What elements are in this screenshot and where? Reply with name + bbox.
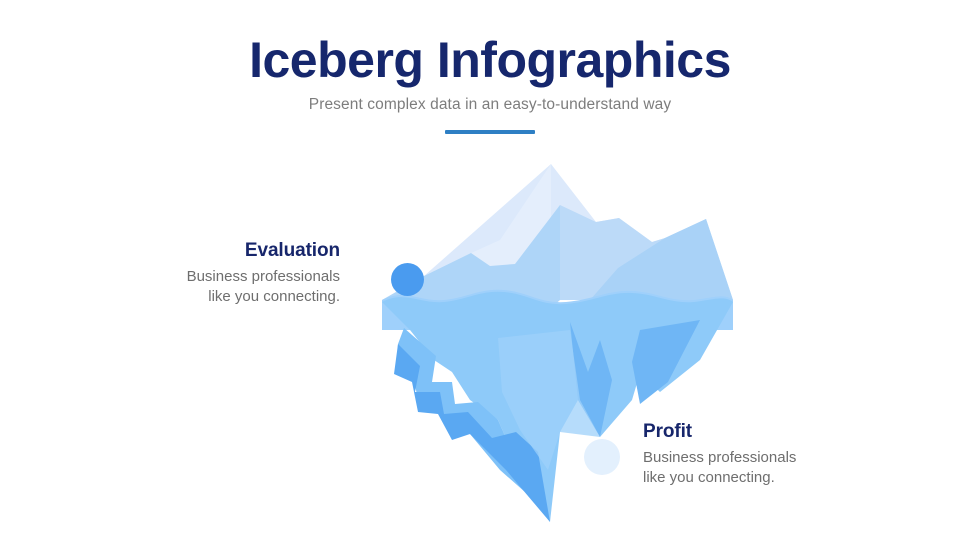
callout-evaluation[interactable]: Evaluation Business professionals like y… (140, 240, 340, 308)
callout-evaluation-body: Business professionals like you connecti… (140, 267, 340, 308)
callout-profit[interactable]: Profit Business professionals like you c… (643, 421, 863, 489)
callout-profit-title: Profit (643, 421, 863, 443)
slide-canvas: Iceberg Infographics Present complex dat… (0, 0, 980, 551)
callout-profit-body: Business professionals like you connecti… (643, 448, 863, 489)
page-subtitle: Present complex data in an easy-to-under… (0, 96, 980, 114)
callout-evaluation-title: Evaluation (140, 240, 340, 262)
marker-dot-profit[interactable] (584, 439, 620, 475)
header-block: Iceberg Infographics Present complex dat… (0, 34, 980, 134)
accent-divider (445, 130, 535, 134)
page-title: Iceberg Infographics (0, 34, 980, 87)
marker-dot-evaluation[interactable] (391, 263, 424, 296)
